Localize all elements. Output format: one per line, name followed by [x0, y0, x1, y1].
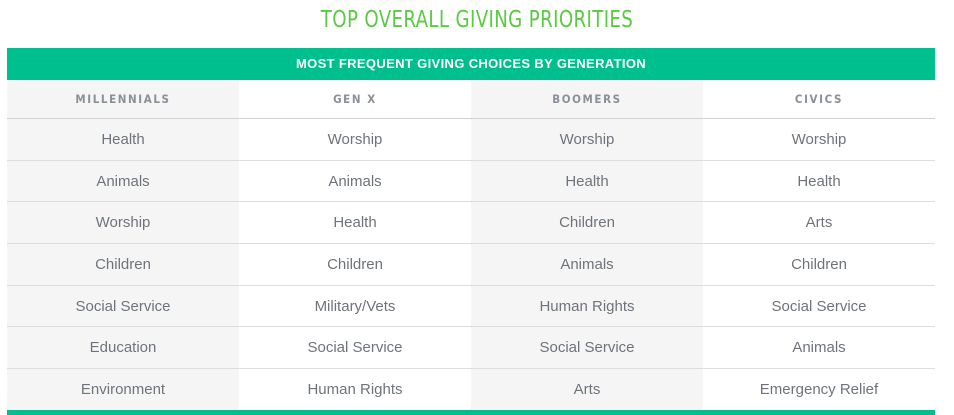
column-header-boomers: BOOMERS	[471, 80, 703, 119]
column-header-millennials: MILLENNIALS	[7, 80, 239, 119]
table-row: Children Children Animals Children	[7, 244, 935, 286]
cell-boomers-5: Human Rights	[471, 285, 703, 327]
cell-genx-4: Children	[239, 244, 471, 286]
table-bottom-rule	[7, 410, 935, 415]
cell-boomers-4: Animals	[471, 244, 703, 286]
cell-civics-3: Arts	[703, 202, 935, 244]
cell-millennials-6: Education	[7, 327, 239, 369]
cell-millennials-3: Worship	[7, 202, 239, 244]
cell-genx-3: Health	[239, 202, 471, 244]
cell-genx-1: Worship	[239, 119, 471, 161]
table-row: Social Service Military/Vets Human Right…	[7, 285, 935, 327]
cell-civics-6: Animals	[703, 327, 935, 369]
cell-civics-5: Social Service	[703, 285, 935, 327]
cell-boomers-2: Health	[471, 160, 703, 202]
header-row: MILLENNIALS GEN X BOOMERS CIVICS	[7, 80, 935, 119]
column-header-gen-x: GEN X	[239, 80, 471, 119]
cell-genx-6: Social Service	[239, 327, 471, 369]
table-body: Health Worship Worship Worship Animals A…	[7, 119, 935, 410]
table-row: Worship Health Children Arts	[7, 202, 935, 244]
cell-boomers-7: Arts	[471, 369, 703, 410]
column-header-civics: CIVICS	[703, 80, 935, 119]
cell-millennials-5: Social Service	[7, 285, 239, 327]
table-banner-heading: MOST FREQUENT GIVING CHOICES BY GENERATI…	[7, 48, 935, 80]
cell-genx-5: Military/Vets	[239, 285, 471, 327]
cell-boomers-1: Worship	[471, 119, 703, 161]
table-head: MILLENNIALS GEN X BOOMERS CIVICS	[7, 80, 935, 119]
cell-boomers-3: Children	[471, 202, 703, 244]
cell-millennials-7: Environment	[7, 369, 239, 410]
cell-millennials-4: Children	[7, 244, 239, 286]
table-row: Education Social Service Social Service …	[7, 327, 935, 369]
cell-boomers-6: Social Service	[471, 327, 703, 369]
cell-civics-1: Worship	[703, 119, 935, 161]
cell-millennials-1: Health	[7, 119, 239, 161]
table-row: Environment Human Rights Arts Emergency …	[7, 369, 935, 410]
giving-priorities-table: MOST FREQUENT GIVING CHOICES BY GENERATI…	[7, 48, 935, 415]
cell-civics-2: Health	[703, 160, 935, 202]
cell-civics-4: Children	[703, 244, 935, 286]
page-title: TOP OVERALL GIVING PRIORITIES	[57, 6, 897, 34]
priorities-grid: MILLENNIALS GEN X BOOMERS CIVICS Health …	[7, 80, 935, 410]
table-row: Health Worship Worship Worship	[7, 119, 935, 161]
cell-millennials-2: Animals	[7, 160, 239, 202]
table-row: Animals Animals Health Health	[7, 160, 935, 202]
cell-civics-7: Emergency Relief	[703, 369, 935, 410]
infographic-table-page: TOP OVERALL GIVING PRIORITIES MOST FREQU…	[0, 0, 954, 414]
cell-genx-2: Animals	[239, 160, 471, 202]
cell-genx-7: Human Rights	[239, 369, 471, 410]
